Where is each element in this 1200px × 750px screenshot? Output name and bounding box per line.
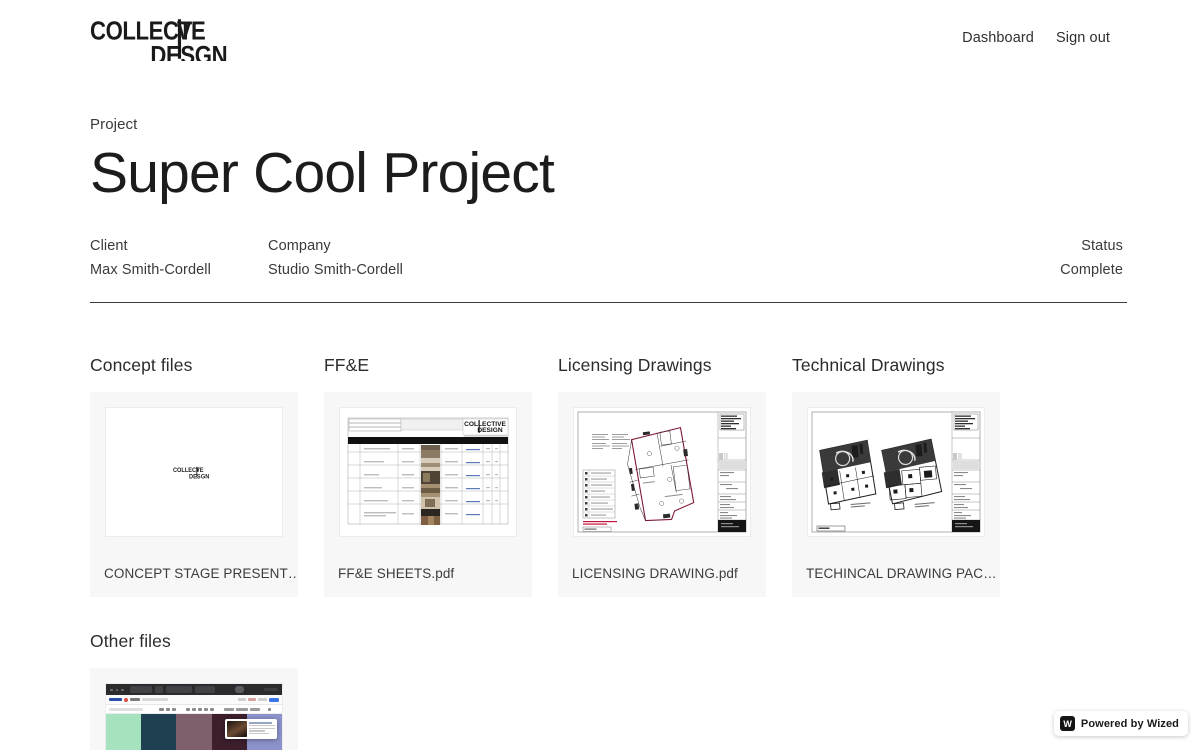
nav-link-dashboard[interactable]: Dashboard bbox=[962, 30, 1034, 46]
color-swatch-1 bbox=[106, 714, 141, 750]
file-name-label: LICENSING DRAWING.pdf bbox=[558, 552, 766, 597]
wized-logo-icon: W bbox=[1060, 716, 1075, 731]
window-minimize-icon bbox=[116, 689, 119, 692]
file-card[interactable]: COLLECT VE DES GN CONCEPT STAGE PRESENT… bbox=[90, 392, 298, 597]
color-swatch-canvas bbox=[106, 714, 282, 750]
site-header: COLLECT VE DES GN Dashboard Sign out bbox=[0, 0, 1200, 76]
ffe-sheet-preview: COLLECTIVE DESIGN bbox=[340, 408, 516, 536]
file-thumbnail bbox=[558, 392, 766, 552]
window-close-icon bbox=[110, 689, 113, 692]
file-card[interactable]: TECHINCAL DRAWING PAC… bbox=[792, 392, 1000, 597]
file-thumbnail bbox=[792, 392, 1000, 552]
help-button bbox=[238, 698, 246, 701]
browser-titlebar bbox=[106, 684, 282, 695]
svg-text:DESIGN: DESIGN bbox=[477, 427, 503, 434]
file-thumbnail bbox=[90, 668, 298, 750]
file-name-label: CONCEPT STAGE PRESENT… bbox=[90, 552, 298, 597]
meta-company-value: Studio Smith-Cordell bbox=[268, 262, 446, 278]
wized-badge-label: Powered by Wized bbox=[1081, 718, 1179, 730]
section-licensing-drawings: Licensing Drawings bbox=[558, 355, 766, 597]
file-grid: Concept files COLLECT VE DES GN bbox=[90, 355, 1110, 597]
collective-design-logo[interactable]: COLLECT VE DES GN bbox=[90, 17, 248, 61]
project-meta-row: Client Max Smith-Cordell Company Studio … bbox=[90, 238, 1127, 302]
view-button bbox=[224, 708, 234, 711]
meta-client: Client Max Smith-Cordell bbox=[90, 238, 268, 278]
file-type-icon bbox=[124, 698, 128, 702]
image-preview-popover bbox=[225, 719, 277, 739]
technical-plan-preview bbox=[808, 408, 984, 536]
section-title: Licensing Drawings bbox=[558, 355, 766, 376]
main-nav: Dashboard Sign out bbox=[962, 30, 1110, 46]
document-title bbox=[130, 698, 140, 701]
color-swatch-2 bbox=[141, 714, 176, 750]
toolbar-icon bbox=[166, 708, 170, 711]
share-label bbox=[250, 708, 260, 711]
section-title: Technical Drawings bbox=[792, 355, 1000, 376]
toolbar-icon bbox=[159, 708, 164, 711]
document-subtitle bbox=[142, 698, 168, 701]
meta-client-value: Max Smith-Cordell bbox=[90, 262, 268, 278]
svg-text:DES: DES bbox=[150, 41, 195, 61]
file-thumbnail: COLLECTIVE DESIGN bbox=[324, 392, 532, 552]
other-files-grid bbox=[90, 668, 1110, 750]
meta-status: Status Complete bbox=[1060, 238, 1127, 278]
browser-app-bar bbox=[106, 695, 282, 705]
project-eyebrow: Project bbox=[90, 116, 1127, 133]
file-card[interactable] bbox=[90, 668, 298, 750]
toolbar-icon bbox=[172, 708, 176, 711]
window-maximize-icon bbox=[121, 689, 124, 692]
history-button bbox=[248, 698, 256, 701]
browser-tab bbox=[195, 686, 215, 693]
browser-tab-active bbox=[235, 686, 244, 693]
file-sections: Concept files COLLECT VE DES GN bbox=[0, 355, 1200, 750]
section-title: Other files bbox=[90, 631, 1110, 652]
page-title: Super Cool Project bbox=[90, 142, 1127, 206]
color-swatch-3 bbox=[176, 714, 211, 750]
app-logo-icon bbox=[109, 698, 122, 701]
browser-screenshot-preview bbox=[106, 684, 282, 750]
explore-button bbox=[236, 708, 248, 711]
svg-text:GN: GN bbox=[201, 475, 209, 480]
section-title: FF&E bbox=[324, 355, 532, 376]
toolbar-icon bbox=[192, 708, 196, 711]
file-card[interactable]: LICENSING DRAWING.pdf bbox=[558, 392, 766, 597]
svg-text:GN: GN bbox=[195, 41, 227, 61]
svg-text:COLLECT: COLLECT bbox=[173, 468, 200, 474]
meta-company: Company Studio Smith-Cordell bbox=[268, 238, 446, 278]
meta-status-label: Status bbox=[1060, 238, 1123, 254]
more-options-icon bbox=[268, 708, 271, 711]
status-badge: Complete bbox=[1060, 262, 1123, 278]
toolbar-icon bbox=[186, 708, 190, 711]
window-controls bbox=[264, 688, 278, 691]
share-button bbox=[269, 698, 279, 702]
file-card[interactable]: COLLECTIVE DESIGN bbox=[324, 392, 532, 597]
toolbar-icon bbox=[204, 708, 208, 711]
toolbar-icon bbox=[198, 708, 202, 711]
svg-text:DES: DES bbox=[189, 475, 201, 480]
meta-company-label: Company bbox=[268, 238, 446, 254]
browser-tab bbox=[130, 686, 152, 693]
concept-slide-preview: COLLECT VE DES GN bbox=[106, 408, 282, 536]
nav-link-sign-out[interactable]: Sign out bbox=[1056, 30, 1110, 46]
section-technical-drawings: Technical Drawings bbox=[792, 355, 1000, 597]
signin-button bbox=[258, 698, 267, 701]
project-header: Project Super Cool Project Client Max Sm… bbox=[0, 116, 1200, 303]
file-name-label: FF&E SHEETS.pdf bbox=[324, 552, 532, 597]
logo-icon: COLLECT VE DES GN bbox=[90, 17, 248, 61]
file-thumbnail: COLLECT VE DES GN bbox=[90, 392, 298, 552]
file-name-label: TECHINCAL DRAWING PAC… bbox=[792, 552, 1000, 597]
licensing-plan-preview bbox=[574, 408, 750, 536]
powered-by-wized-badge[interactable]: W Powered by Wized bbox=[1054, 711, 1188, 736]
thumbnail-image bbox=[227, 721, 247, 737]
collective-design-logo-icon: COLLECT VE DES GN bbox=[173, 465, 215, 479]
section-ffe: FF&E bbox=[324, 355, 532, 597]
header-divider bbox=[90, 302, 1127, 304]
browser-format-bar bbox=[106, 705, 282, 714]
browser-tab bbox=[155, 686, 163, 693]
section-title: Concept files bbox=[90, 355, 298, 376]
section-other-files: Other files bbox=[90, 631, 1110, 750]
popover-text-lines bbox=[249, 721, 275, 737]
browser-tab bbox=[166, 686, 192, 693]
search-input bbox=[109, 708, 143, 711]
meta-client-label: Client bbox=[90, 238, 268, 254]
toolbar-icon bbox=[210, 708, 214, 711]
browser-window-mock bbox=[106, 684, 282, 750]
section-concept-files: Concept files COLLECT VE DES GN bbox=[90, 355, 298, 597]
